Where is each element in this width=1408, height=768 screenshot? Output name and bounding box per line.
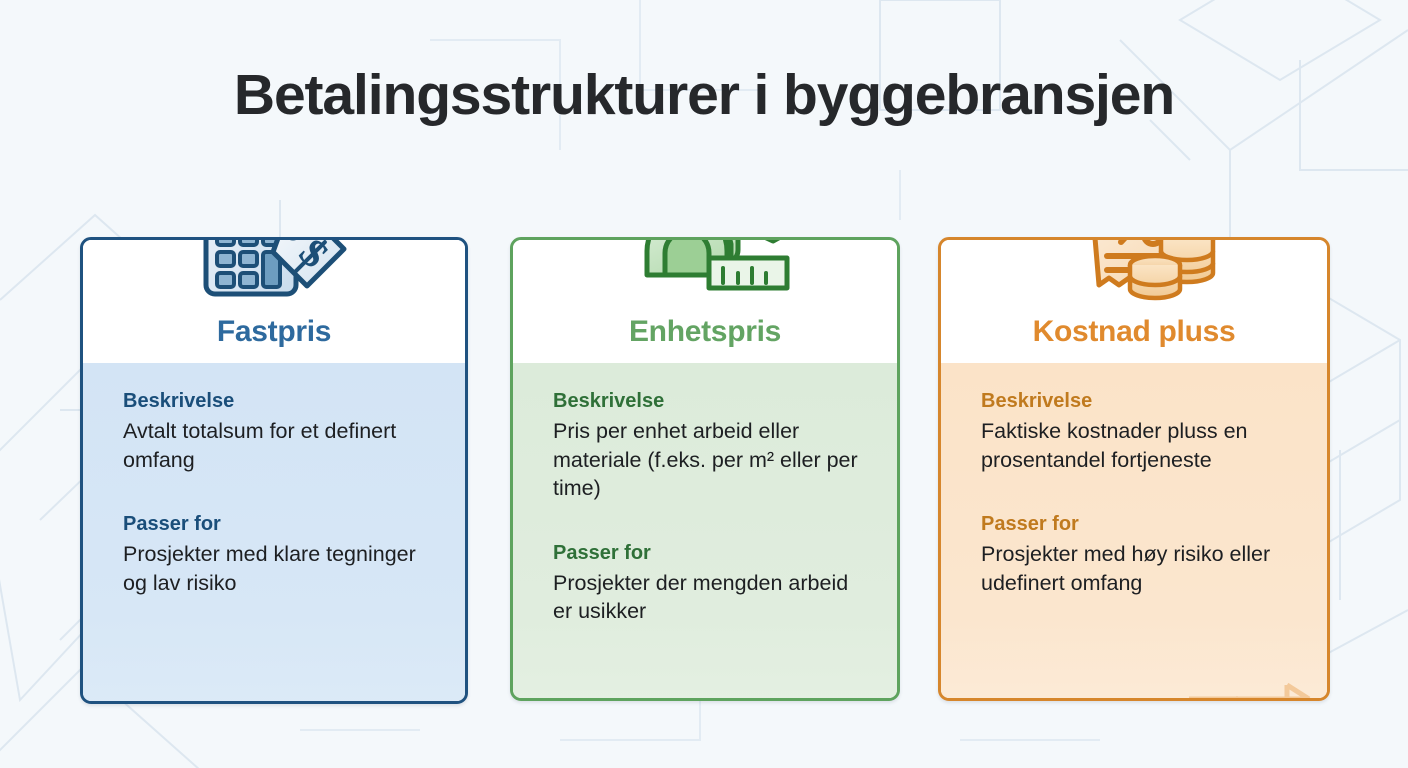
card-kostnad-pluss[interactable]: Kostnad pluss [938,237,1330,701]
field-passer-for: Passer for Prosjekter med høy risiko ell… [981,513,1289,597]
field-text: Prosjekter der mengden arbeid er usikker [553,569,859,626]
card-header-kostnad-pluss: Kostnad pluss [941,240,1327,363]
hard-hat-bricks-icon [746,691,891,701]
field-text: Prosjekter med høy risiko eller udefiner… [981,540,1289,597]
card-title-kostnad-pluss: Kostnad pluss [1033,315,1236,349]
payment-structure-cards: S Fastpris Beskrivelse Avtalt totalsum f… [0,237,1408,707]
wrench-gear-icon [309,699,459,704]
field-beskrivelse: Beskrivelse Pris per enhet arbeid eller … [553,390,859,503]
field-label: Passer for [123,513,427,536]
card-body-enhetspris: Beskrivelse Pris per enhet arbeid eller … [513,363,897,701]
field-passer-for: Passer for Prosjekter med klare tegninge… [123,513,427,597]
card-title-fastpris: Fastpris [217,315,331,349]
field-beskrivelse: Beskrivelse Faktiske kostnader pluss en … [981,390,1289,474]
field-label: Beskrivelse [553,390,859,413]
card-header-fastpris: S Fastpris [83,240,465,363]
card-enhetspris[interactable]: Enhetspris Beskr [510,237,900,701]
card-title-enhetspris: Enhetspris [629,315,781,349]
card-body-kostnad-pluss: Beskrivelse Faktiske kostnader pluss en … [941,363,1327,701]
field-text: Faktiske kostnader pluss en prosentandel… [981,417,1289,474]
field-passer-for: Passer for Prosjekter der mengden arbeid… [553,542,859,626]
crane-buildings-icon [1171,681,1321,701]
field-beskrivelse: Beskrivelse Avtalt totalsum for et defin… [123,390,427,474]
field-label: Passer for [981,513,1289,536]
calculator-price-tag-icon: S [189,237,364,308]
field-text: Prosjekter med klare tegninger og lav ri… [123,540,423,597]
card-body-fastpris: Beskrivelse Avtalt totalsum for et defin… [83,363,465,704]
field-text: Pris per enhet arbeid eller materiale (f… [553,417,859,503]
field-label: Beskrivelse [981,390,1289,413]
field-label: Passer for [553,542,859,565]
receipt-percent-coins-icon [1069,237,1224,303]
page-title: Betalingsstrukturer i byggebransjen [0,62,1408,128]
field-text: Avtalt totalsum for et definert omfang [123,417,423,474]
card-fastpris[interactable]: S Fastpris Beskrivelse Avtalt totalsum f… [80,237,468,704]
field-label: Beskrivelse [123,390,427,413]
card-header-enhetspris: Enhetspris [513,240,897,363]
measuring-tape-cube-icon [635,237,805,298]
